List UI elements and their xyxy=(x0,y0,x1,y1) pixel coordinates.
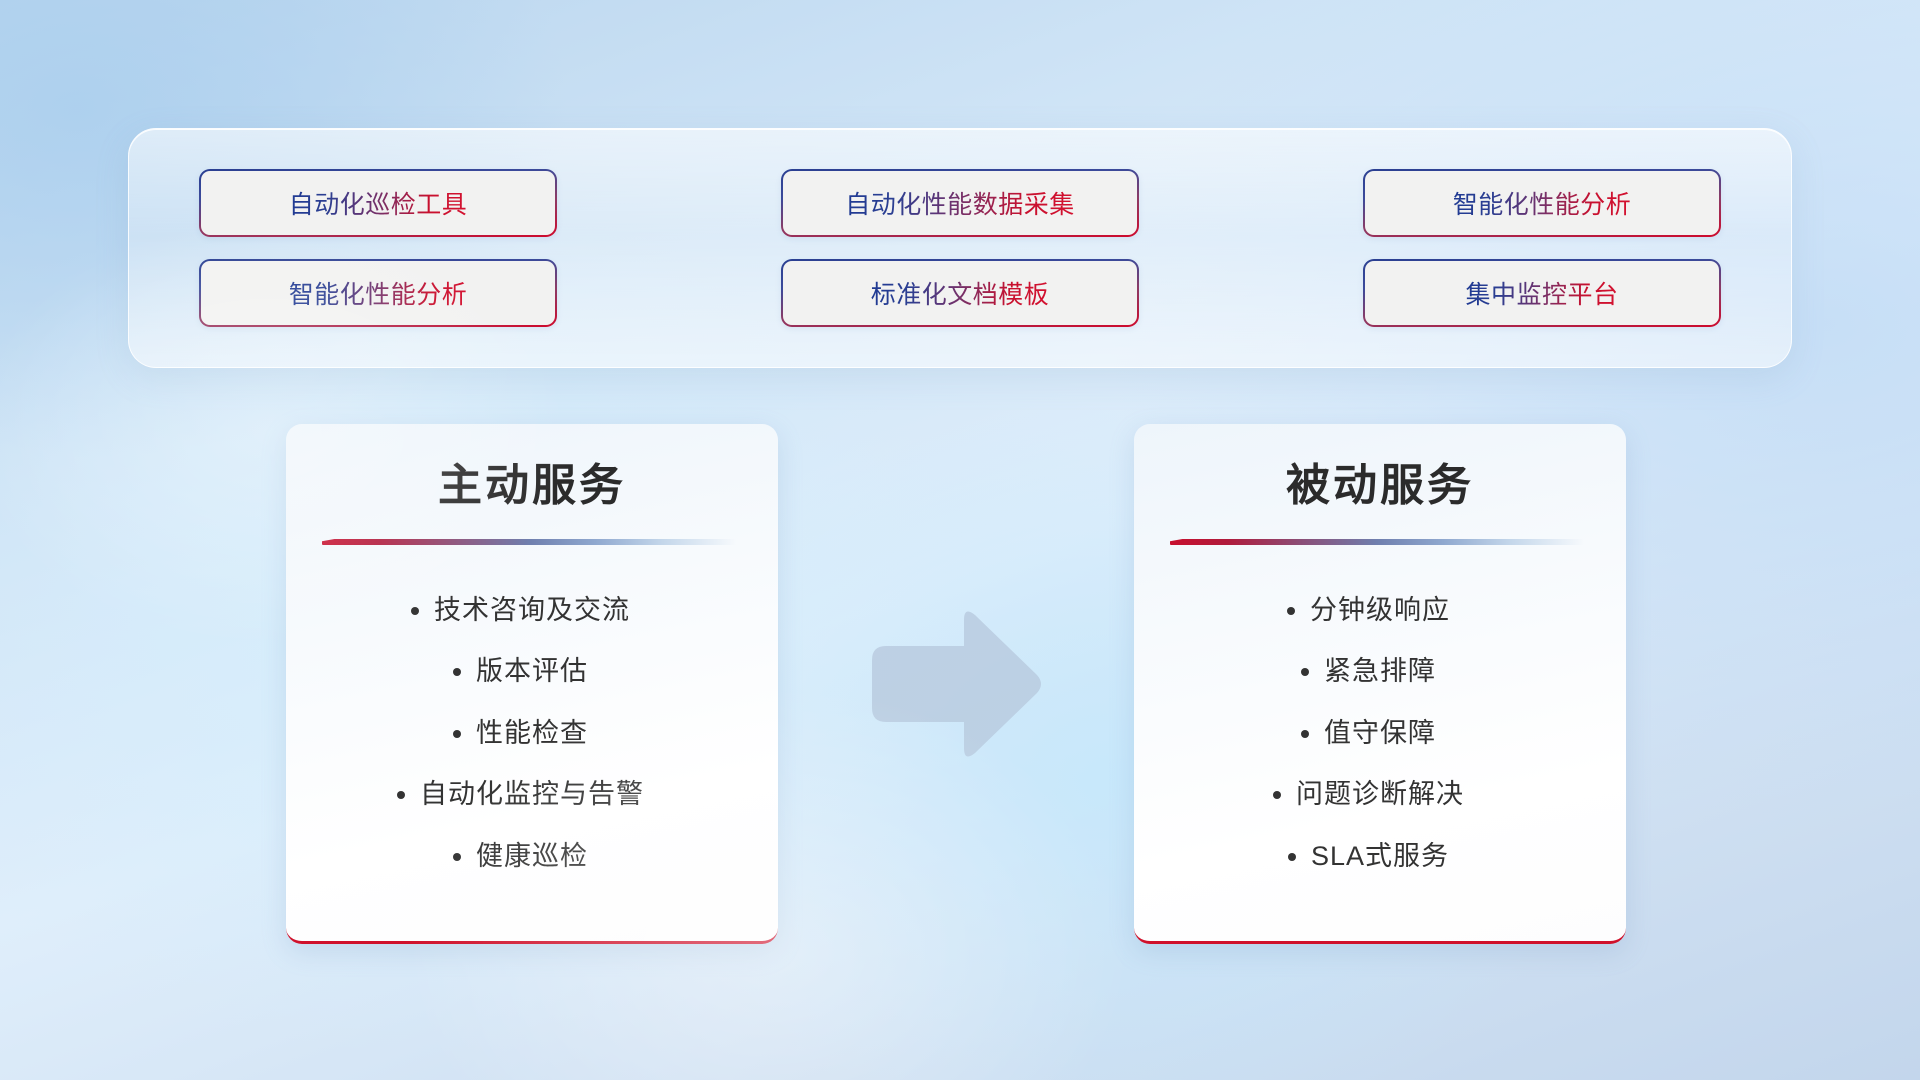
capability-tag-label: 标准化文档模板 xyxy=(871,275,1050,311)
capability-tag[interactable]: 集中监控平台 xyxy=(1363,259,1721,327)
card-title: 被动服务 xyxy=(1168,458,1592,513)
list-item: 紧急排障 xyxy=(1324,655,1436,687)
reactive-service-list: 分钟级响应 紧急排障 值守保障 问题诊断解决 SLA式服务 xyxy=(1168,557,1592,915)
slide-canvas: 自动化巡检工具 自动化性能数据采集 智能化性能分析 智能化性能分析 标准化文档模… xyxy=(0,0,1920,1080)
reactive-service-card: 被动服务 分钟级响应 紧急排障 值守保障 问题诊断解决 SLA式服务 xyxy=(1134,424,1626,944)
capability-tag-label: 集中监控平台 xyxy=(1465,275,1618,311)
capability-tag[interactable]: 标准化文档模板 xyxy=(781,259,1139,327)
list-item: 分钟级响应 xyxy=(1310,594,1450,626)
capability-tag-label: 智能化性能分析 xyxy=(289,275,468,311)
list-item: 性能检查 xyxy=(476,717,588,749)
capability-row-2: 智能化性能分析 标准化文档模板 集中监控平台 xyxy=(199,259,1721,327)
capability-tag[interactable]: 自动化巡检工具 xyxy=(199,169,557,237)
list-item: 问题诊断解决 xyxy=(1296,778,1464,810)
list-item: 值守保障 xyxy=(1324,717,1436,749)
capability-tag-label: 自动化性能数据采集 xyxy=(845,185,1075,221)
arrow-right-icon xyxy=(866,604,1044,764)
capability-tag-label: 自动化巡检工具 xyxy=(289,185,468,221)
capability-panel: 自动化巡检工具 自动化性能数据采集 智能化性能分析 智能化性能分析 标准化文档模… xyxy=(128,128,1792,368)
capability-tag[interactable]: 智能化性能分析 xyxy=(199,259,557,327)
capability-tag-label: 智能化性能分析 xyxy=(1453,185,1632,221)
list-item: SLA式服务 xyxy=(1311,840,1449,872)
capability-row-1: 自动化巡检工具 自动化性能数据采集 智能化性能分析 xyxy=(199,169,1721,237)
list-item: 技术咨询及交流 xyxy=(434,594,630,626)
list-item: 自动化监控与告警 xyxy=(420,778,644,810)
list-item: 健康巡检 xyxy=(476,840,588,872)
list-item: 版本评估 xyxy=(476,655,588,687)
proactive-service-list: 技术咨询及交流 版本评估 性能检查 自动化监控与告警 健康巡检 xyxy=(320,557,744,915)
capability-tag[interactable]: 自动化性能数据采集 xyxy=(781,169,1139,237)
card-divider xyxy=(322,537,736,547)
card-divider xyxy=(1170,537,1584,547)
capability-tag[interactable]: 智能化性能分析 xyxy=(1363,169,1721,237)
proactive-service-card: 主动服务 技术咨询及交流 版本评估 性能检查 自动化监控与告警 健康巡检 xyxy=(286,424,778,944)
card-title: 主动服务 xyxy=(320,458,744,513)
